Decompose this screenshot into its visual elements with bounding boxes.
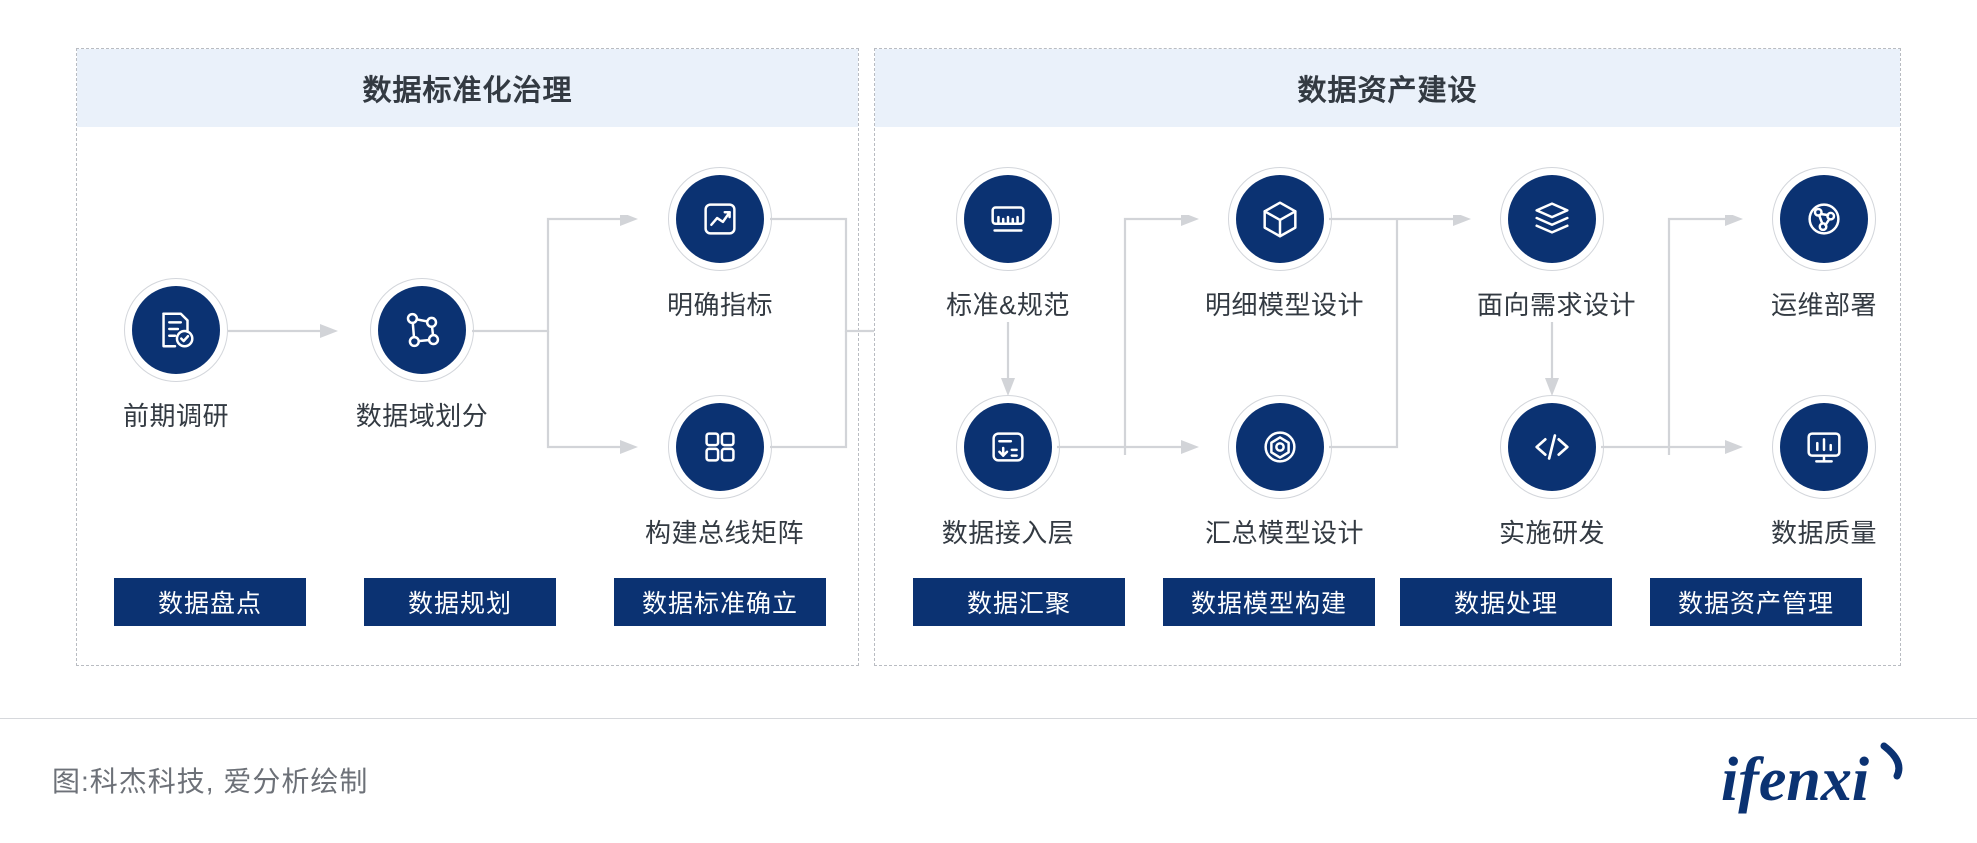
tag-data-inventory[interactable]: 数据盘点: [114, 578, 306, 626]
node-ring: [1500, 395, 1604, 499]
ifenxi-logo: ifenxi: [1721, 742, 1911, 816]
node-implementation-development[interactable]: 实施研发: [1477, 395, 1627, 550]
node-preliminary-research[interactable]: 前期调研: [101, 278, 251, 433]
monitor-chart-icon: [1780, 403, 1868, 491]
node-data-access-layer[interactable]: 数据接入层: [933, 395, 1083, 550]
document-check-icon: [132, 286, 220, 374]
node-ring: [370, 278, 474, 382]
database-import-icon: [964, 403, 1052, 491]
node-label: 明确指标: [645, 285, 795, 322]
footer-credit-text: 图:科杰科技, 爱分析绘制: [52, 760, 368, 800]
tag-data-processing[interactable]: 数据处理: [1400, 578, 1612, 626]
node-ring: [668, 395, 772, 499]
node-ring: [956, 167, 1060, 271]
node-label: 汇总模型设计: [1205, 513, 1355, 550]
tag-data-standard-establish[interactable]: 数据标准确立: [614, 578, 826, 626]
node-ring: [1772, 167, 1876, 271]
node-data-quality[interactable]: 数据质量: [1749, 395, 1899, 550]
panel-left-title: 数据标准化治理: [77, 49, 858, 127]
node-label: 数据接入层: [933, 513, 1083, 550]
node-detail-model-design[interactable]: 明细模型设计: [1205, 167, 1355, 322]
footer-divider: [0, 718, 1977, 719]
node-label: 面向需求设计: [1477, 285, 1627, 322]
node-ring: [1228, 395, 1332, 499]
node-ring: [1500, 167, 1604, 271]
cube-icon: [1236, 175, 1324, 263]
node-summary-model-design[interactable]: 汇总模型设计: [1205, 395, 1355, 550]
tag-data-planning[interactable]: 数据规划: [364, 578, 556, 626]
node-demand-oriented-design[interactable]: 面向需求设计: [1477, 167, 1627, 322]
node-label: 实施研发: [1477, 513, 1627, 550]
node-ring: [956, 395, 1060, 499]
ruler-icon: [964, 175, 1052, 263]
node-ops-deployment[interactable]: 运维部署: [1749, 167, 1899, 322]
diagram-canvas: 数据标准化治理 前期调研: [0, 0, 1977, 843]
node-label: 运维部署: [1749, 285, 1899, 322]
network-share-icon: [1780, 175, 1868, 263]
node-label: 数据质量: [1749, 513, 1899, 550]
node-label: 标准&规范: [933, 285, 1083, 322]
grid-blocks-icon: [676, 403, 764, 491]
ifenxi-logo-text: ifenxi: [1721, 746, 1869, 814]
node-ring: [124, 278, 228, 382]
node-label: 数据域划分: [347, 396, 497, 433]
panel-data-asset-construction: 数据资产建设: [874, 48, 1901, 666]
node-define-metrics[interactable]: 明确指标: [645, 167, 795, 322]
hexagon-data-icon: [1236, 403, 1324, 491]
chart-trend-icon: [676, 175, 764, 263]
node-data-domain-division[interactable]: 数据域划分: [347, 278, 497, 433]
tag-data-aggregation[interactable]: 数据汇聚: [913, 578, 1125, 626]
node-label: 明细模型设计: [1205, 285, 1355, 322]
graph-nodes-icon: [378, 286, 466, 374]
node-ring: [1228, 167, 1332, 271]
code-brackets-icon: [1508, 403, 1596, 491]
node-ring: [1772, 395, 1876, 499]
node-build-bus-matrix[interactable]: 构建总线矩阵: [645, 395, 795, 550]
node-standards-specs[interactable]: 标准&规范: [933, 167, 1083, 322]
node-ring: [668, 167, 772, 271]
tag-data-asset-management[interactable]: 数据资产管理: [1650, 578, 1862, 626]
logo-swoosh: [1884, 746, 1899, 776]
tag-data-model-building[interactable]: 数据模型构建: [1163, 578, 1375, 626]
panel-right-title: 数据资产建设: [875, 49, 1900, 127]
node-label: 构建总线矩阵: [645, 513, 795, 550]
node-label: 前期调研: [101, 396, 251, 433]
layers-stack-icon: [1508, 175, 1596, 263]
